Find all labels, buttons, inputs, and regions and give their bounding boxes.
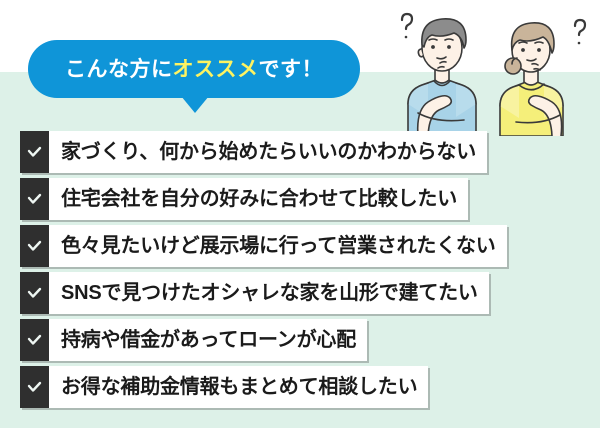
headline-accent: オススメ [173, 58, 259, 81]
question-mark-right [575, 20, 585, 44]
check-icon [27, 240, 42, 252]
check-icon [27, 381, 42, 393]
check-icon [27, 287, 42, 299]
checklist-item-label: 色々見たいけど展示場に行って営業されたくない [49, 225, 507, 267]
checklist-item: 持病や借金があってローンが心配 [20, 319, 367, 361]
checklist-item-label: SNSで見つけたオシャレな家を山形で建てたい [49, 272, 489, 314]
checklist-item: 住宅会社を自分の好みに合わせて比較したい [20, 178, 468, 220]
checklist-item: 家づくり、何から始めたらいいのかわからない [20, 131, 487, 173]
check-icon [27, 334, 42, 346]
check-icon-box [20, 225, 49, 267]
checklist-item: 色々見たいけど展示場に行って営業されたくない [20, 225, 507, 267]
checklist: 家づくり、何から始めたらいいのかわからない 住宅会社を自分の好みに合わせて比較し… [20, 131, 580, 413]
checklist-item-label: お得な補助金情報もまとめて相談したい [49, 366, 428, 408]
poster-canvas: こんな方にオススメです！ 家づくり、何から始めたらいいのかわからない 住宅会社を… [0, 0, 600, 428]
check-icon-box [20, 366, 49, 408]
headline-tail: です！ [259, 58, 324, 81]
headline-banner: こんな方にオススメです！ [28, 40, 360, 98]
headline-lead: こんな方に [65, 58, 173, 81]
checklist-item: お得な補助金情報もまとめて相談したい [20, 366, 428, 408]
checklist-item-label: 住宅会社を自分の好みに合わせて比較したい [49, 178, 468, 220]
checklist-item: SNSで見つけたオシャレな家を山形で建てたい [20, 272, 489, 314]
check-icon [27, 146, 42, 158]
check-icon-box [20, 272, 49, 314]
checklist-item-label: 持病や借金があってローンが心配 [49, 319, 367, 361]
check-icon-box [20, 178, 49, 220]
question-mark-left [402, 14, 412, 38]
checklist-item-label: 家づくり、何から始めたらいいのかわからない [49, 131, 487, 173]
check-icon-box [20, 319, 49, 361]
headline-banner-text: こんな方にオススメです！ [65, 59, 323, 80]
headline-banner-pointer [181, 96, 209, 113]
check-icon-box [20, 131, 49, 173]
check-icon [27, 193, 42, 205]
illustration-two-people-thinking [388, 0, 600, 136]
